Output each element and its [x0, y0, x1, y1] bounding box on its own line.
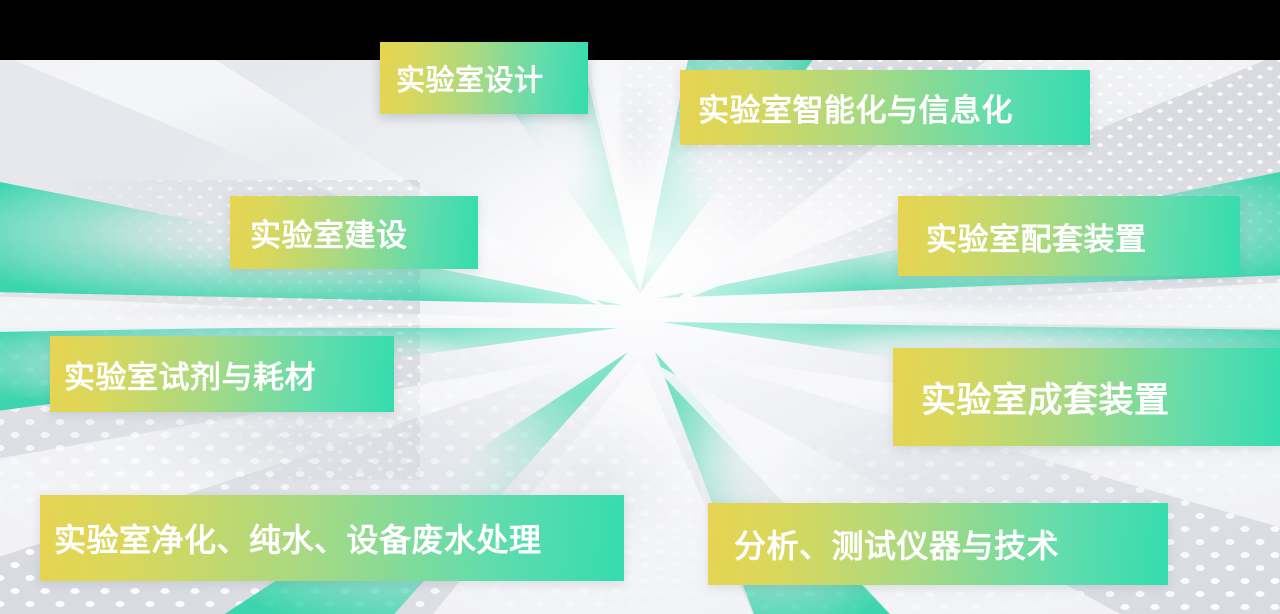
label-lab-purification-water-wastewater[interactable]: 实验室净化、纯水、设备废水处理: [40, 495, 624, 581]
label-text: 实验室建设: [250, 210, 408, 255]
label-text: 实验室智能化与信息化: [698, 85, 1013, 130]
label-lab-intelligence-informatization[interactable]: 实验室智能化与信息化: [680, 70, 1090, 145]
label-lab-supporting-equipment[interactable]: 实验室配套装置: [898, 196, 1240, 276]
label-text: 实验室净化、纯水、设备废水处理: [54, 515, 542, 561]
label-text: 实验室配套装置: [926, 214, 1147, 259]
label-lab-complete-equipment[interactable]: 实验室成套装置: [893, 348, 1280, 446]
label-lab-reagents-consumables[interactable]: 实验室试剂与耗材: [50, 336, 394, 412]
label-text: 实验室设计: [396, 57, 544, 99]
label-analysis-testing-instruments[interactable]: 分析、测试仪器与技术: [708, 503, 1168, 585]
slide-canvas: 实验室设计 实验室智能化与信息化 实验室建设 实验室配套装置 实验室试剂与耗材 …: [0, 0, 1280, 614]
label-lab-construction[interactable]: 实验室建设: [230, 196, 478, 269]
label-text: 实验室试剂与耗材: [64, 352, 316, 397]
label-lab-design-overlay[interactable]: 实验室设计: [380, 42, 588, 114]
label-text: 分析、测试仪器与技术: [734, 521, 1059, 567]
letterbox-top-bar: [0, 0, 1280, 60]
label-text: 实验室成套装置: [921, 372, 1170, 423]
